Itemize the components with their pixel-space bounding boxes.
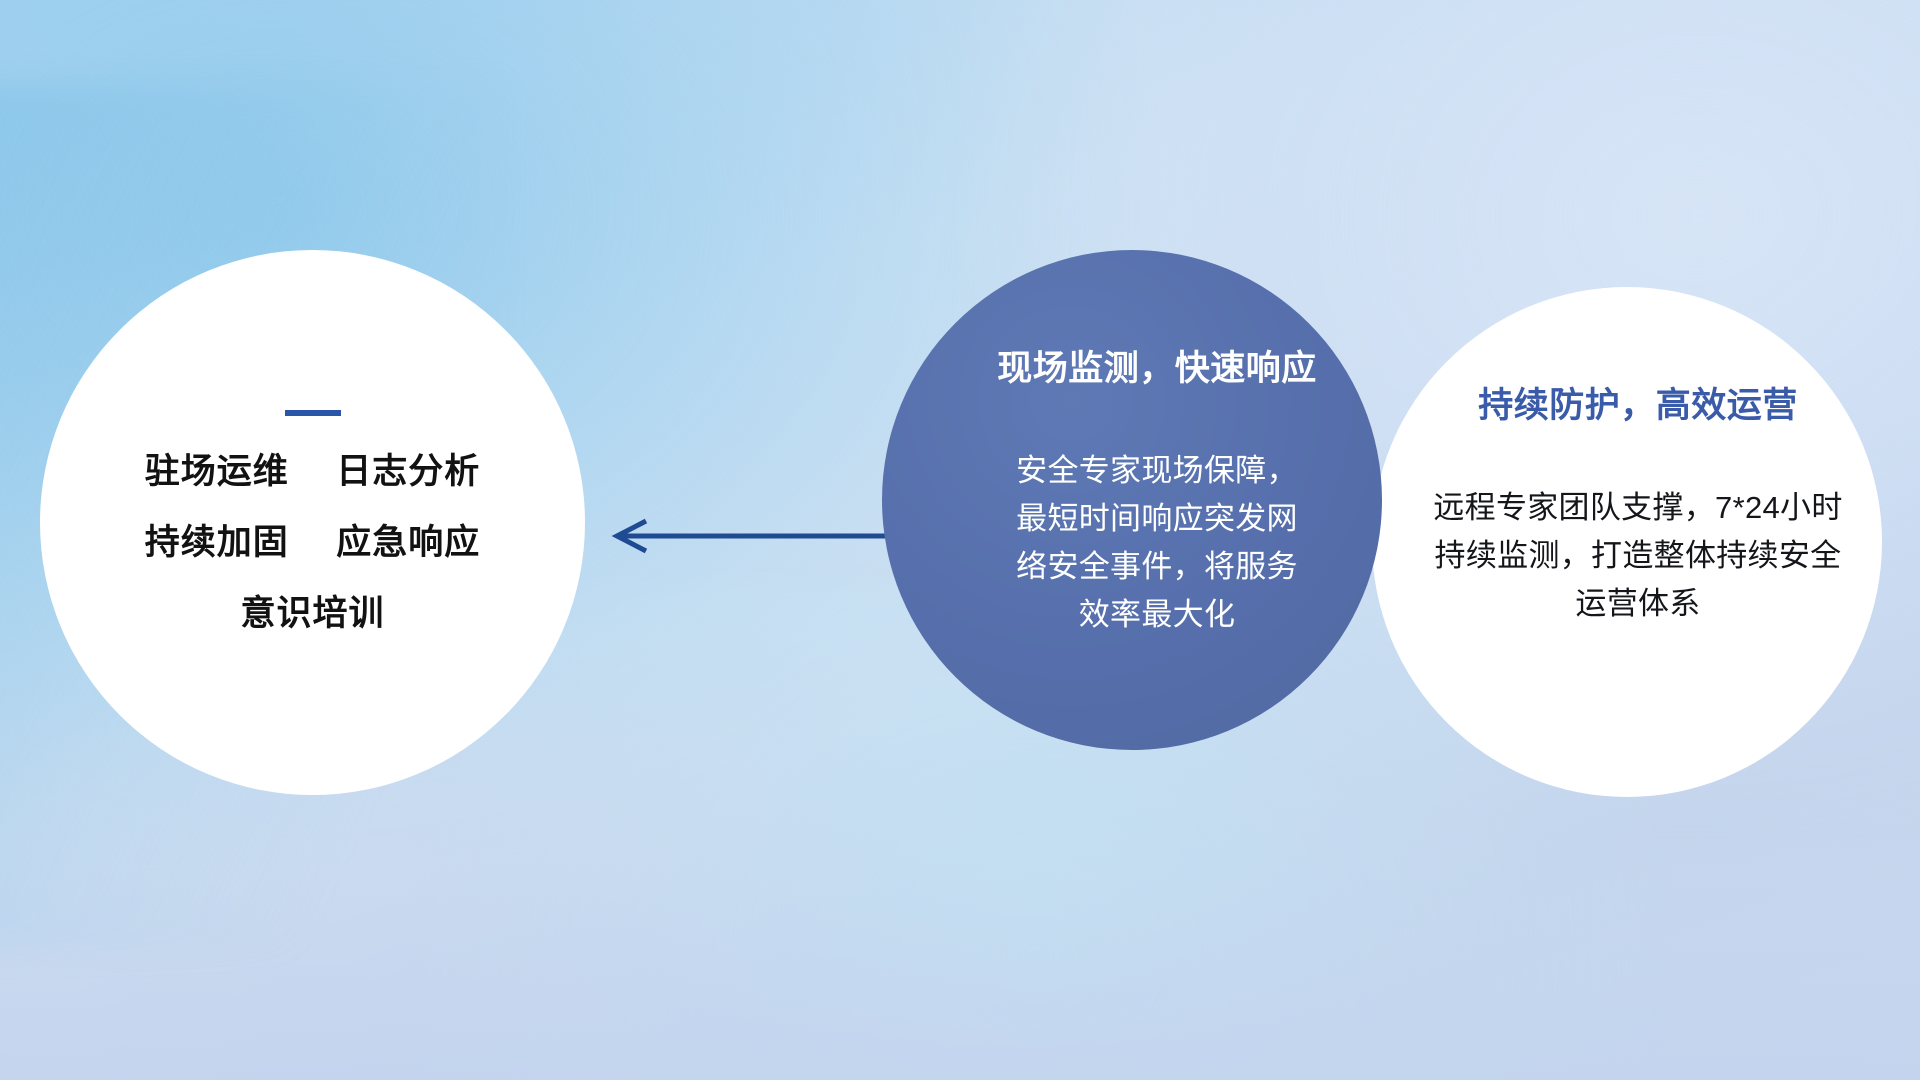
capability-label: 持续加固 (145, 523, 289, 562)
onsite-monitoring-circle[interactable]: 现场监测，快速响应 安全专家现场保障，最短时间响应突发网络安全事件，将服务效率最… (882, 250, 1382, 750)
right-circle-content: 持续防护，高效运营 远程专家团队支撑，7*24小时持续监测，打造整体持续安全运营… (1372, 287, 1882, 797)
capability-label: 应急响应 (336, 523, 480, 562)
capability-label: 驻场运维 (145, 452, 289, 491)
capability-row: 持续加固 应急响应 (145, 525, 481, 560)
horizontal-dash-icon (285, 410, 341, 416)
middle-circle-title: 现场监测，快速响应 (997, 350, 1317, 389)
middle-circle-content: 现场监测，快速响应 安全专家现场保障，最短时间响应突发网络安全事件，将服务效率最… (882, 250, 1382, 750)
leftward-arrow (600, 515, 900, 557)
left-circle-content: 驻场运维 日志分析 持续加固 应急响应 意识培训 (40, 250, 585, 795)
right-circle-body: 远程专家团队支撑，7*24小时持续监测，打造整体持续安全运营体系 (1429, 484, 1847, 628)
middle-circle-body: 安全专家现场保障，最短时间响应突发网络安全事件，将服务效率最大化 (1007, 447, 1307, 639)
slide-canvas: 持续防护，高效运营 远程专家团队支撑，7*24小时持续监测，打造整体持续安全运营… (0, 0, 1920, 1080)
capability-row: 驻场运维 日志分析 (145, 454, 481, 489)
capability-label: 日志分析 (336, 452, 480, 491)
capability-label: 意识培训 (240, 594, 384, 633)
capabilities-circle[interactable]: 驻场运维 日志分析 持续加固 应急响应 意识培训 (40, 250, 585, 795)
right-circle-title: 持续防护，高效运营 (1478, 387, 1798, 426)
continuous-protection-circle[interactable]: 持续防护，高效运营 远程专家团队支撑，7*24小时持续监测，打造整体持续安全运营… (1372, 287, 1882, 797)
capability-row: 意识培训 (240, 596, 384, 631)
